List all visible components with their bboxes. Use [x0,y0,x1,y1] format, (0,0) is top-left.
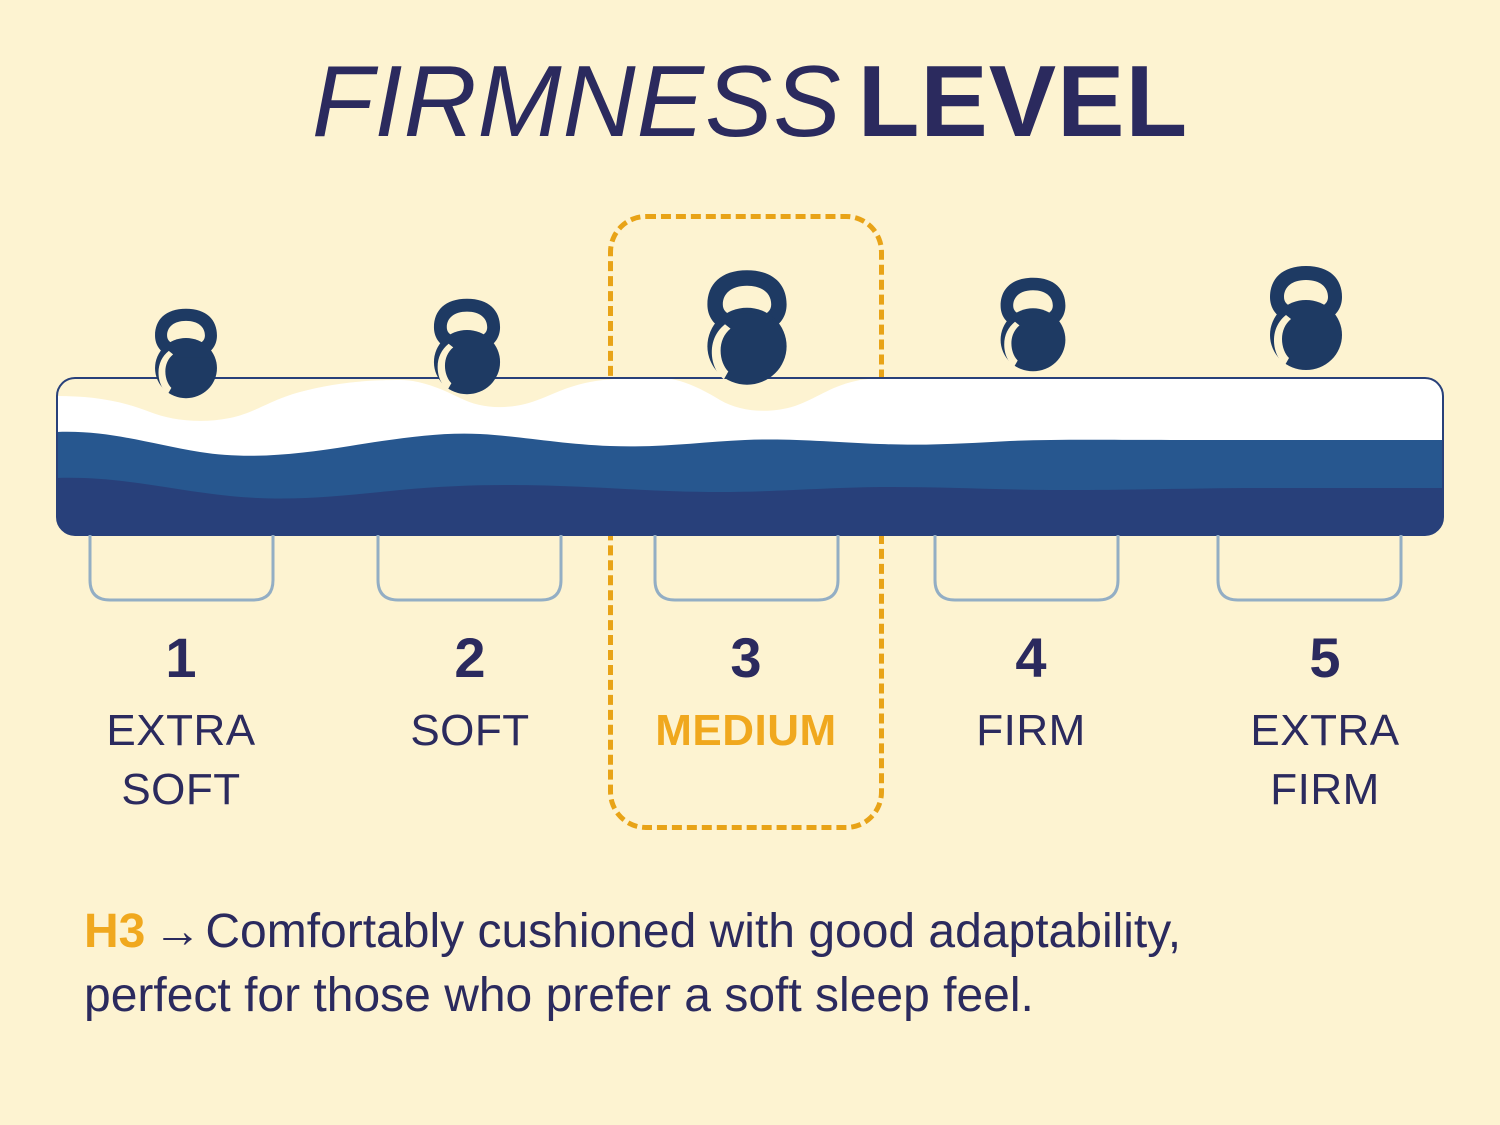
firmness-level-infographic: FIRMNESSLEVEL [0,0,1500,1125]
title-firmness: FIRMNESS [312,46,842,158]
firmness-code-badge: H3 [84,905,145,958]
scale-item-1[interactable]: 1 EXTRA SOFT [61,630,301,819]
scale-label-3-line-1: MEDIUM [626,702,866,761]
scale-label-3: MEDIUM [626,702,866,761]
scale-number-1: 1 [61,630,301,686]
bracket-5 [1218,535,1401,600]
scale-item-3[interactable]: 3 MEDIUM [626,630,866,761]
title-level: LEVEL [858,46,1189,158]
bracket-2 [378,535,561,600]
kettlebell-icon-5 [1270,266,1342,370]
arrow-icon: → [153,905,201,958]
scale-label-5-line-2: FIRM [1205,761,1445,820]
scale-label-1-line-1: EXTRA [61,702,301,761]
scale-number-2: 2 [350,630,590,686]
scale-label-5: EXTRA FIRM [1205,702,1445,819]
scale-label-4-line-1: FIRM [911,702,1151,761]
description-line-1: Comfortably cushioned with good adaptabi… [205,905,1181,958]
scale-label-2: SOFT [350,702,590,761]
page-title: FIRMNESSLEVEL [0,52,1500,153]
bracket-4 [935,535,1118,600]
bracket-1 [90,535,273,600]
scale-label-4: FIRM [911,702,1151,761]
kettlebell-icon-1 [155,309,217,398]
kettlebell-icon-4 [1001,278,1066,372]
scale-label-5-line-1: EXTRA [1205,702,1445,761]
scale-label-1-line-2: SOFT [61,761,301,820]
scale-number-4: 4 [911,630,1151,686]
description-line-2: perfect for those who prefer a soft slee… [84,964,1424,1028]
scale-label-2-line-1: SOFT [350,702,590,761]
scale-item-4[interactable]: 4 FIRM [911,630,1151,761]
scale-number-5: 5 [1205,630,1445,686]
scale-item-2[interactable]: 2 SOFT [350,630,590,761]
scale-item-5[interactable]: 5 EXTRA FIRM [1205,630,1445,819]
kettlebell-icon-2 [434,299,500,394]
scale-number-3: 3 [626,630,866,686]
description-block: H3→Comfortably cushioned with good adapt… [84,900,1424,1029]
scale-label-1: EXTRA SOFT [61,702,301,819]
